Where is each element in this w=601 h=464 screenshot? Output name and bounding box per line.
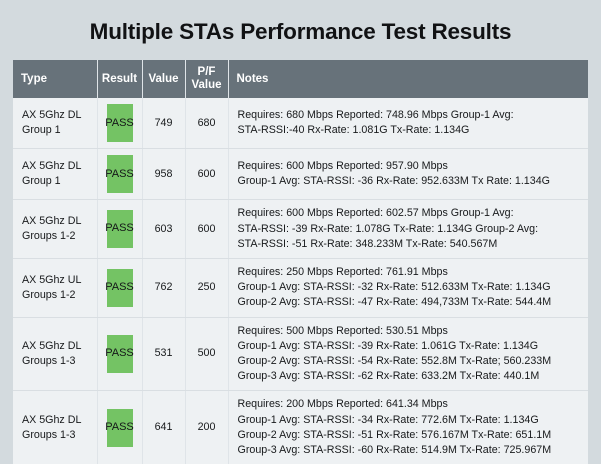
cell-value: 603 — [142, 200, 185, 259]
cell-notes: Requires: 200 Mbps Reported: 641.34 Mbps… — [228, 391, 588, 464]
results-table-container: Type Result Value P/F Value Notes AX 5Gh… — [13, 60, 588, 464]
status-badge: PASS — [107, 104, 133, 142]
table-header-row: Type Result Value P/F Value Notes — [13, 60, 588, 98]
cell-type: AX 5Ghz DL Groups 1-3 — [13, 391, 97, 464]
page-title: Multiple STAs Performance Test Results — [0, 19, 601, 45]
column-header-value: Value — [142, 60, 185, 98]
cell-result: PASS — [97, 98, 142, 149]
table-row: AX 5Ghz DL Group 1PASS958600Requires: 60… — [13, 149, 588, 200]
table-row: AX 5Ghz UL Groups 1-2PASS762250Requires:… — [13, 259, 588, 318]
column-header-result: Result — [97, 60, 142, 98]
table-header: Type Result Value P/F Value Notes — [13, 60, 588, 98]
cell-notes: Requires: 600 Mbps Reported: 957.90 Mbps… — [228, 149, 588, 200]
table-row: AX 5Ghz DL Groups 1-2PASS603600Requires:… — [13, 200, 588, 259]
cell-type: AX 5Ghz DL Group 1 — [13, 98, 97, 149]
cell-pf-value: 200 — [185, 391, 228, 464]
cell-notes: Requires: 680 Mbps Reported: 748.96 Mbps… — [228, 98, 588, 149]
page-root: Multiple STAs Performance Test Results T… — [0, 0, 601, 453]
cell-pf-value: 600 — [185, 200, 228, 259]
cell-result: PASS — [97, 317, 142, 391]
table-row: AX 5Ghz DL Groups 1-3PASS531500Requires:… — [13, 317, 588, 391]
cell-result: PASS — [97, 200, 142, 259]
cell-pf-value: 500 — [185, 317, 228, 391]
cell-value: 641 — [142, 391, 185, 464]
results-table: Type Result Value P/F Value Notes AX 5Gh… — [13, 60, 588, 464]
table-row: AX 5Ghz DL Groups 1-3PASS641200Requires:… — [13, 391, 588, 464]
cell-value: 531 — [142, 317, 185, 391]
table-row: AX 5Ghz DL Group 1PASS749680Requires: 68… — [13, 98, 588, 149]
cell-result: PASS — [97, 259, 142, 318]
cell-notes: Requires: 250 Mbps Reported: 761.91 Mbps… — [228, 259, 588, 318]
status-badge: PASS — [107, 155, 133, 193]
cell-type: AX 5Ghz DL Groups 1-3 — [13, 317, 97, 391]
cell-notes: Requires: 500 Mbps Reported: 530.51 Mbps… — [228, 317, 588, 391]
cell-value: 749 — [142, 98, 185, 149]
cell-result: PASS — [97, 391, 142, 464]
status-badge: PASS — [107, 409, 133, 447]
status-badge: PASS — [107, 269, 133, 307]
cell-type: AX 5Ghz UL Groups 1-2 — [13, 259, 97, 318]
cell-type: AX 5Ghz DL Group 1 — [13, 149, 97, 200]
cell-pf-value: 680 — [185, 98, 228, 149]
cell-result: PASS — [97, 149, 142, 200]
cell-value: 958 — [142, 149, 185, 200]
cell-pf-value: 250 — [185, 259, 228, 318]
cell-type: AX 5Ghz DL Groups 1-2 — [13, 200, 97, 259]
cell-notes: Requires: 600 Mbps Reported: 602.57 Mbps… — [228, 200, 588, 259]
status-badge: PASS — [107, 210, 133, 248]
table-body: AX 5Ghz DL Group 1PASS749680Requires: 68… — [13, 98, 588, 464]
cell-pf-value: 600 — [185, 149, 228, 200]
status-badge: PASS — [107, 335, 133, 373]
cell-value: 762 — [142, 259, 185, 318]
column-header-pf-value: P/F Value — [185, 60, 228, 98]
column-header-notes: Notes — [228, 60, 588, 98]
column-header-type: Type — [13, 60, 97, 98]
